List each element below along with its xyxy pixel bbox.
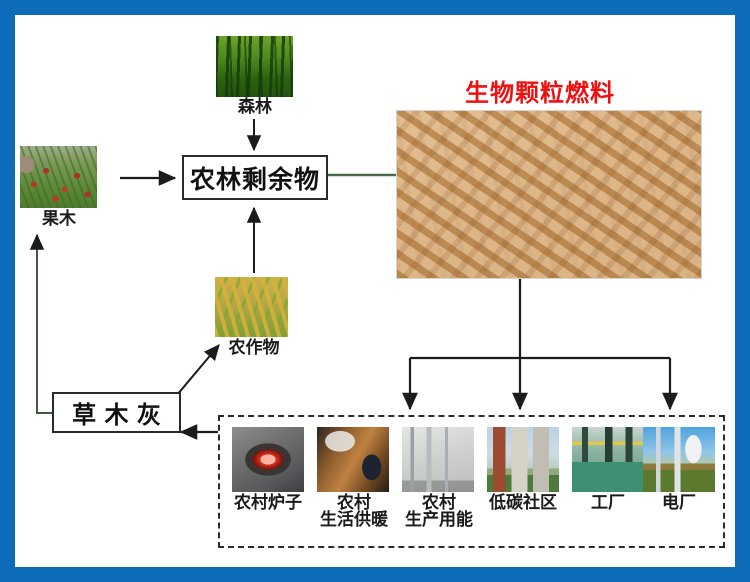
wood-pellets-photo: [396, 110, 702, 279]
crop-field-caption: 农作物: [211, 340, 297, 357]
edge-ash-to-fruit: [37, 235, 52, 413]
residue-box-label: 农林剩余物: [190, 160, 320, 196]
residue-box[interactable]: 农林剩余物: [182, 155, 328, 200]
diagram-page: 森林 果木 农作物 农林剩余物 草 木 灰 生物颗粒燃料 农村炉子 农村 生活供…: [0, 0, 750, 582]
low-carbon-community-caption: 低碳社区: [477, 495, 569, 512]
power-plant-caption: 电厂: [637, 495, 721, 512]
rural-heating-photo: [317, 427, 389, 492]
forest-caption: 森林: [210, 99, 300, 116]
rural-stove-photo: [232, 427, 304, 492]
ash-box-label: 草 木 灰: [72, 395, 161, 430]
product-title: 生物颗粒燃料: [465, 73, 615, 108]
crop-field-photo: [215, 277, 288, 337]
diagram-canvas: 森林 果木 农作物 农林剩余物 草 木 灰 生物颗粒燃料 农村炉子 农村 生活供…: [15, 15, 735, 567]
low-carbon-community-photo: [487, 427, 559, 492]
forest-photo: [216, 36, 293, 97]
rural-production-caption: 农村 生产用能: [395, 495, 483, 530]
factory-photo: [572, 427, 644, 492]
fruit-tree-caption: 果木: [15, 211, 103, 228]
rural-heating-caption: 农村 生活供暖: [310, 495, 398, 530]
ash-box[interactable]: 草 木 灰: [52, 392, 181, 433]
power-plant-photo: [643, 427, 715, 492]
rural-stove-caption: 农村炉子: [218, 495, 318, 512]
fruit-tree-photo: [20, 146, 97, 208]
rural-production-photo: [402, 427, 474, 492]
